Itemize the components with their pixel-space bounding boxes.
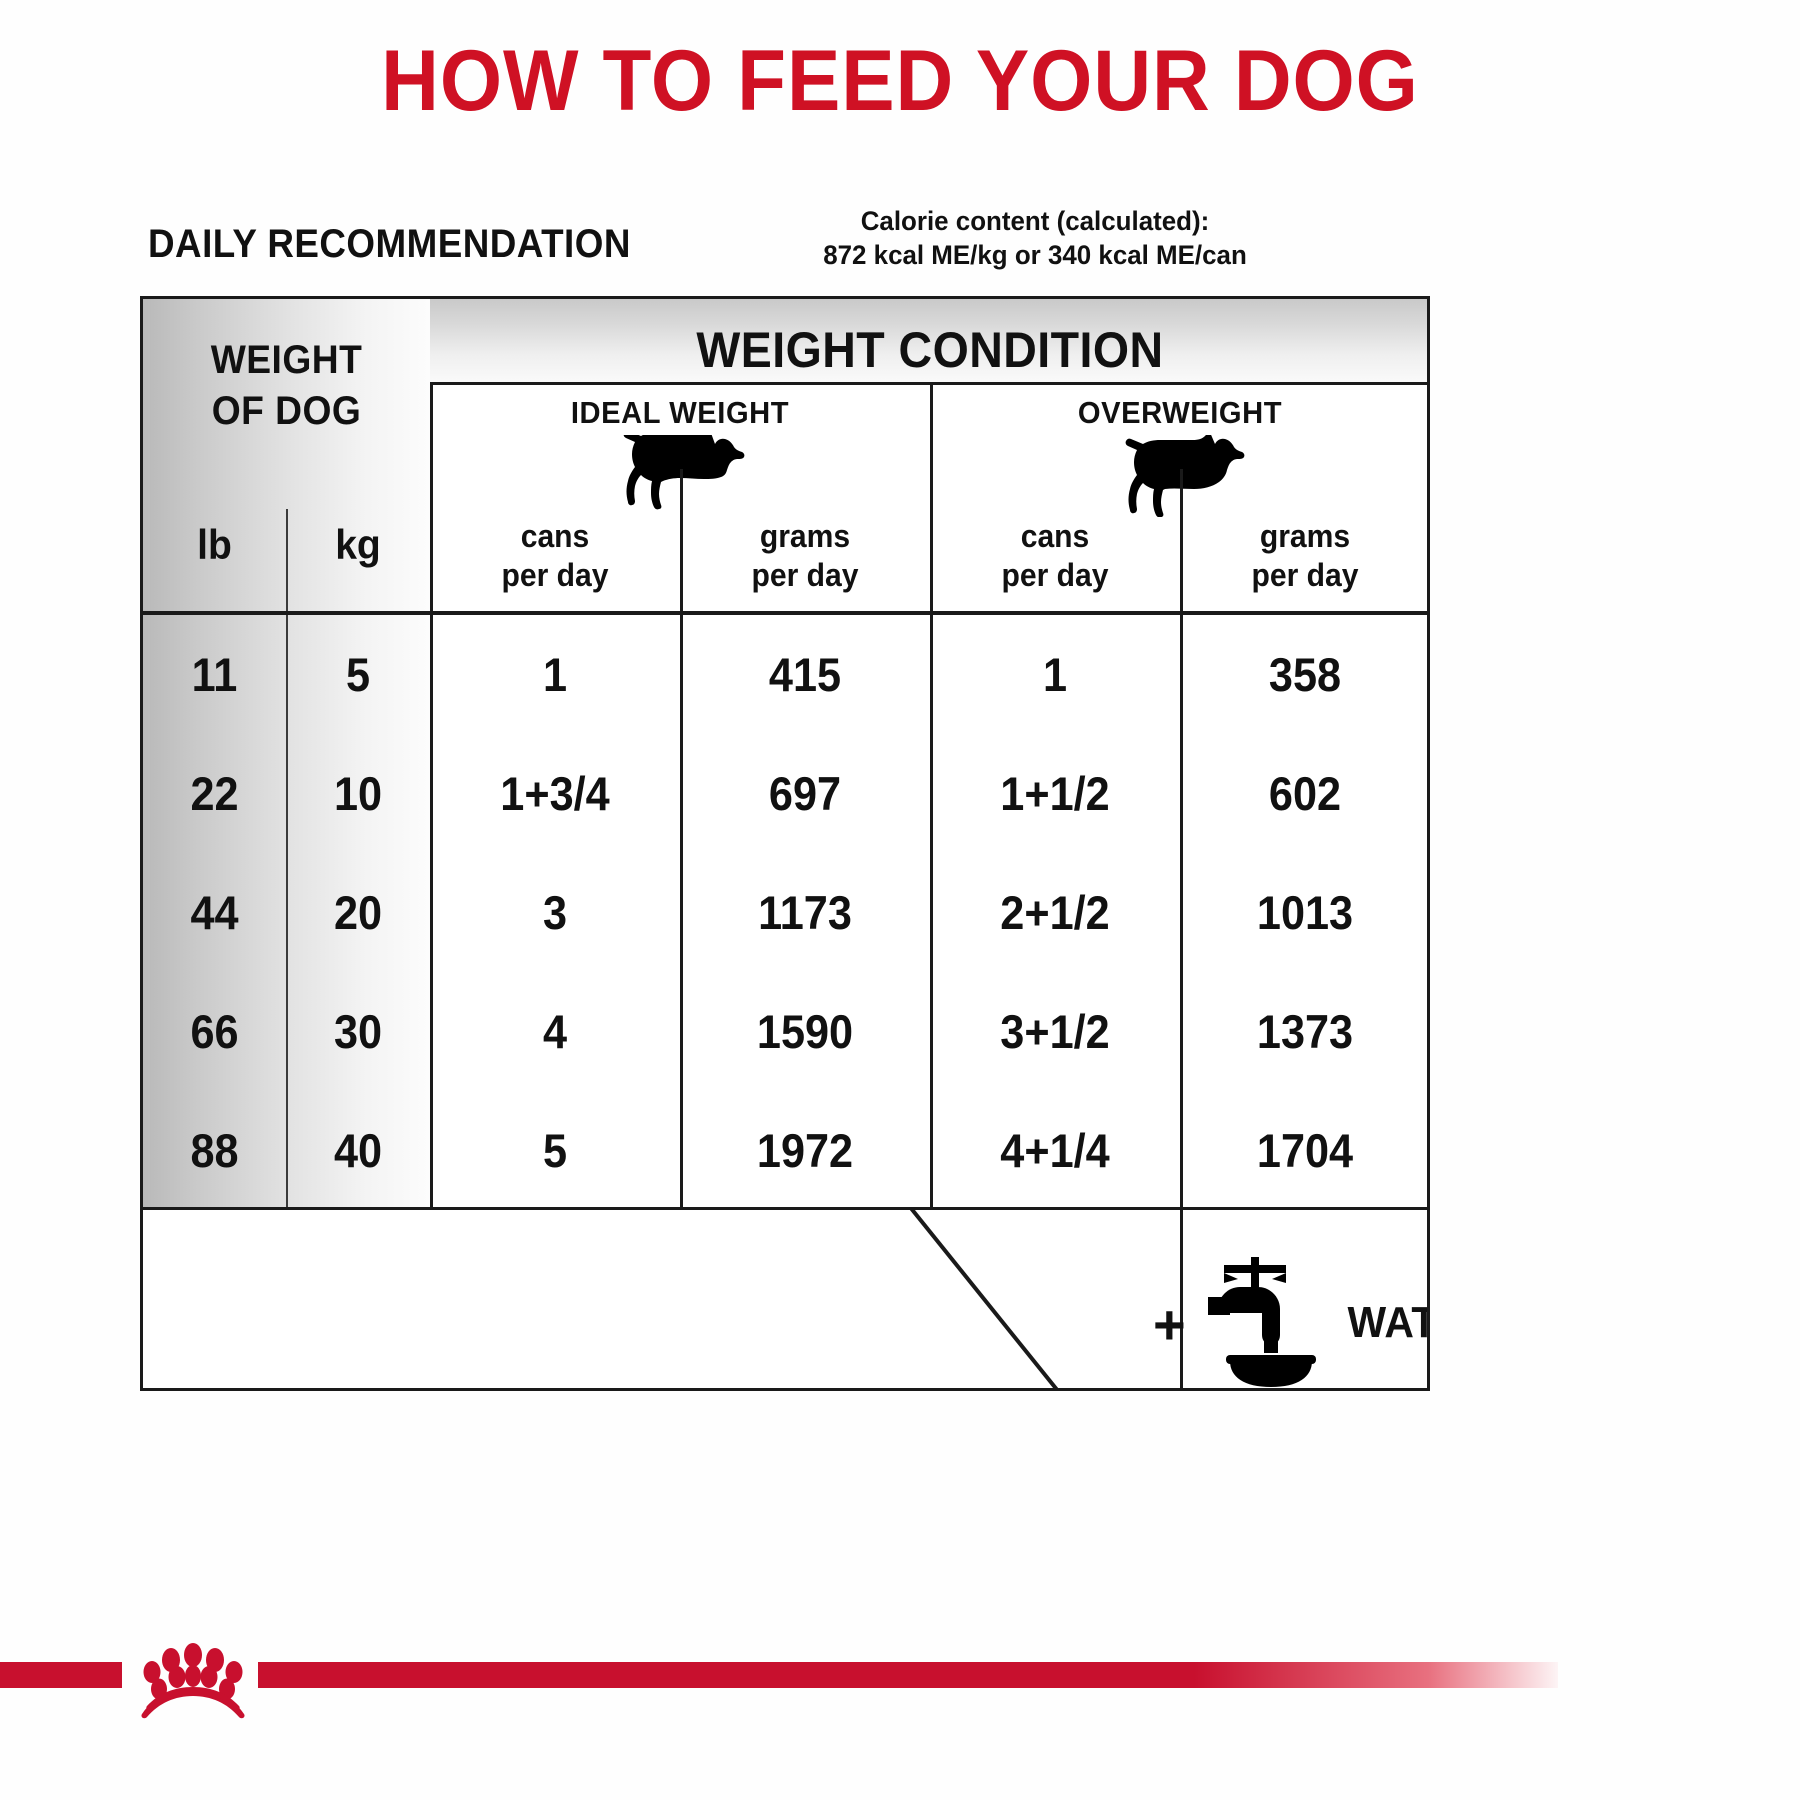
calorie-content-note: Calorie content (calculated): 872 kcal M… <box>635 205 1435 273</box>
cell-lb: 66 <box>143 1004 286 1059</box>
table-row: 44 20 3 1173 2+1/2 1013 <box>143 853 1430 972</box>
table-row: 66 30 4 1590 3+1/2 1373 <box>143 972 1430 1091</box>
cell-ideal-grams: 415 <box>680 647 930 702</box>
page-title: HOW TO FEED YOUR DOG <box>63 38 1737 124</box>
daily-recommendation-heading: DAILY RECOMMENDATION <box>148 222 631 267</box>
cell-over-grams: 1704 <box>1180 1123 1430 1178</box>
cell-over-grams: 1373 <box>1180 1004 1430 1059</box>
over-grams-line-1: grams <box>1188 517 1423 556</box>
table-body: 11 5 1 415 1 358 22 10 1+3/4 697 1+1/2 6… <box>143 615 1430 1210</box>
ideal-weight-label: IDEAL WEIGHT <box>445 395 915 431</box>
footer <box>0 1638 1800 1728</box>
cell-over-cans: 3+1/2 <box>930 1004 1180 1059</box>
footer-bar-right <box>258 1662 1558 1688</box>
cell-ideal-cans: 1+3/4 <box>430 766 680 821</box>
column-header-ideal-grams: grams per day <box>680 517 930 595</box>
ideal-grams-line-1: grams <box>688 517 923 556</box>
cell-kg: 5 <box>286 647 430 702</box>
cell-ideal-grams: 1972 <box>680 1123 930 1178</box>
ideal-grams-line-2: per day <box>688 556 923 595</box>
water-label: WATER <box>1342 1298 1430 1348</box>
cell-over-cans: 4+1/4 <box>930 1123 1180 1178</box>
cell-over-grams: 602 <box>1180 766 1430 821</box>
cell-kg: 30 <box>286 1004 430 1059</box>
cell-ideal-grams: 1590 <box>680 1004 930 1059</box>
cell-over-cans: 1 <box>930 647 1180 702</box>
overweight-header: OVERWEIGHT <box>930 395 1430 431</box>
column-header-kg: kg <box>286 521 430 569</box>
weight-of-dog-line-1: WEIGHT <box>153 335 420 386</box>
diagonal-divider <box>908 1207 1088 1391</box>
cell-ideal-cans: 4 <box>430 1004 680 1059</box>
cell-lb: 44 <box>143 885 286 940</box>
table-row: 22 10 1+3/4 697 1+1/2 602 <box>143 734 1430 853</box>
water-section: + <box>143 1207 1430 1391</box>
cell-ideal-grams: 1173 <box>680 885 930 940</box>
cell-kg: 10 <box>286 766 430 821</box>
cell-lb: 11 <box>143 647 286 702</box>
cell-over-cans: 2+1/2 <box>930 885 1180 940</box>
weight-of-dog-line-2: OF DOG <box>153 386 420 437</box>
column-header-ideal-cans: cans per day <box>430 517 680 595</box>
cell-lb: 88 <box>143 1123 286 1178</box>
table-row: 88 40 5 1972 4+1/4 1704 <box>143 1091 1430 1210</box>
column-header-overweight-grams: grams per day <box>1180 517 1430 595</box>
cell-over-cans: 1+1/2 <box>930 766 1180 821</box>
table-row: 11 5 1 415 1 358 <box>143 615 1430 734</box>
cell-kg: 40 <box>286 1123 430 1178</box>
cell-ideal-cans: 5 <box>430 1123 680 1178</box>
footer-bar-left <box>0 1662 122 1688</box>
cell-ideal-grams: 697 <box>680 766 930 821</box>
cell-ideal-cans: 3 <box>430 885 680 940</box>
cell-over-grams: 1013 <box>1180 885 1430 940</box>
calorie-line-2: 872 kcal ME/kg or 340 kcal ME/can <box>651 239 1419 273</box>
cell-lb: 22 <box>143 766 286 821</box>
lb-label: lb <box>148 521 281 569</box>
faucet-bowl-icon <box>1200 1257 1318 1389</box>
ideal-cans-line-1: cans <box>438 517 673 556</box>
ideal-weight-header: IDEAL WEIGHT <box>430 395 930 431</box>
overweight-label: OVERWEIGHT <box>945 395 1415 431</box>
weight-of-dog-header: WEIGHT OF DOG <box>143 335 430 437</box>
ideal-cans-line-2: per day <box>438 556 673 595</box>
column-header-lb: lb <box>143 521 286 569</box>
plus-sign: + <box>1153 1297 1186 1353</box>
weight-condition-label: WEIGHT CONDITION <box>465 321 1395 379</box>
weight-condition-header: WEIGHT CONDITION <box>430 321 1430 379</box>
cell-ideal-cans: 1 <box>430 647 680 702</box>
cell-kg: 20 <box>286 885 430 940</box>
calorie-line-1: Calorie content (calculated): <box>651 205 1419 239</box>
water-callout: + <box>1153 1257 1430 1389</box>
kg-label: kg <box>291 521 425 569</box>
over-cans-line-2: per day <box>938 556 1173 595</box>
royal-canin-crown-logo <box>118 1638 268 1728</box>
feeding-guide-page: HOW TO FEED YOUR DOG DAILY RECOMMENDATIO… <box>0 0 1800 1800</box>
feeding-table: WEIGHT OF DOG WEIGHT CONDITION IDEAL WEI… <box>140 296 1430 1391</box>
cell-over-grams: 358 <box>1180 647 1430 702</box>
column-header-overweight-cans: cans per day <box>930 517 1180 595</box>
over-cans-line-1: cans <box>938 517 1173 556</box>
divider-header-underline <box>430 382 1430 385</box>
over-grams-line-2: per day <box>1188 556 1423 595</box>
